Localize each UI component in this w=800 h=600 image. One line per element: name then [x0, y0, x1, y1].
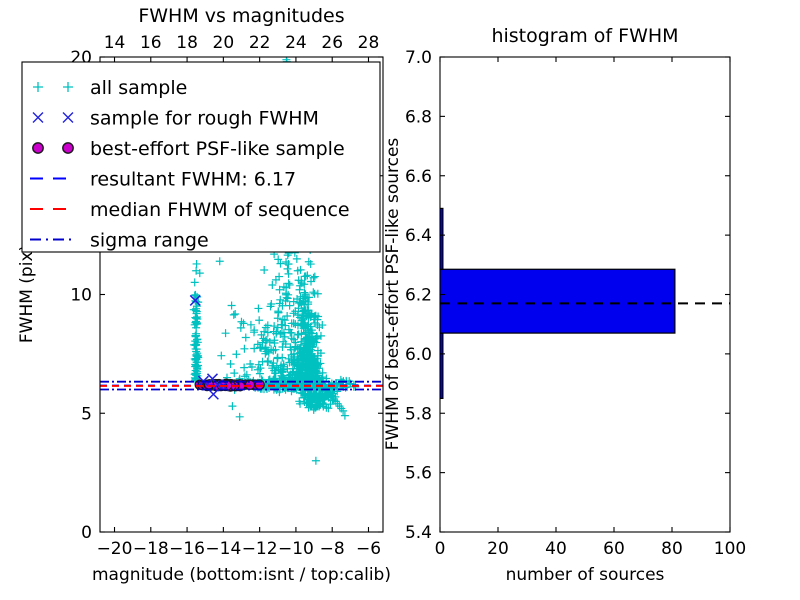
- svg-text:0: 0: [435, 539, 446, 559]
- svg-text:28: 28: [358, 33, 380, 53]
- legend-label: best-effort PSF-like sample: [90, 138, 345, 160]
- figure-canvas: −20−18−16−14−12−10−8−6141618202224262805…: [0, 0, 800, 600]
- svg-text:20: 20: [213, 33, 235, 53]
- svg-text:−12: −12: [242, 539, 278, 559]
- svg-text:−18: −18: [133, 539, 169, 559]
- right-yaxis-label: FWHM of best-effort PSF-like sources: [383, 138, 403, 451]
- svg-text:24: 24: [285, 33, 307, 53]
- svg-text:5.6: 5.6: [405, 464, 432, 484]
- left-panel-title: FWHM vs magnitudes: [138, 5, 344, 27]
- svg-text:40: 40: [545, 539, 567, 559]
- svg-text:60: 60: [603, 539, 625, 559]
- svg-text:26: 26: [321, 33, 343, 53]
- svg-text:22: 22: [249, 33, 271, 53]
- svg-text:5: 5: [81, 404, 92, 424]
- svg-text:−6: −6: [356, 539, 381, 559]
- svg-text:6.0: 6.0: [405, 345, 432, 365]
- svg-text:10: 10: [70, 286, 92, 306]
- svg-text:80: 80: [661, 539, 683, 559]
- legend-label: median FHWM of sequence: [90, 199, 350, 221]
- svg-text:6.8: 6.8: [405, 107, 432, 127]
- legend-label: all sample: [90, 77, 187, 99]
- svg-text:7.0: 7.0: [405, 48, 432, 68]
- svg-text:6.6: 6.6: [405, 167, 432, 187]
- svg-text:14: 14: [104, 33, 126, 53]
- legend-label: sample for rough FWHM: [90, 108, 319, 130]
- svg-text:18: 18: [176, 33, 198, 53]
- svg-text:20: 20: [487, 539, 509, 559]
- legend-label: sigma range: [90, 230, 209, 252]
- left-yaxis-label: FWHM (pix): [17, 245, 37, 343]
- svg-text:−16: −16: [169, 539, 205, 559]
- svg-text:5.8: 5.8: [405, 404, 432, 424]
- legend: all samplesample for rough FWHMbest-effo…: [22, 62, 380, 252]
- svg-text:−8: −8: [320, 539, 345, 559]
- svg-text:16: 16: [140, 33, 162, 53]
- svg-text:−14: −14: [205, 539, 241, 559]
- svg-text:0: 0: [81, 523, 92, 543]
- svg-text:−10: −10: [278, 539, 314, 559]
- matplotlib-figure: −20−18−16−14−12−10−8−6141618202224262805…: [0, 0, 800, 600]
- left-xaxis-label: magnitude (bottom:isnt / top:calib): [92, 565, 391, 585]
- right-xaxis-label: number of sources: [506, 565, 665, 585]
- svg-text:−20: −20: [97, 539, 133, 559]
- svg-text:6.2: 6.2: [405, 286, 432, 306]
- svg-text:5.4: 5.4: [405, 523, 432, 543]
- svg-text:6.4: 6.4: [405, 226, 432, 246]
- svg-text:100: 100: [714, 539, 746, 559]
- legend-label: resultant FWHM: 6.17: [90, 169, 296, 191]
- right-panel-title: histogram of FWHM: [491, 25, 678, 47]
